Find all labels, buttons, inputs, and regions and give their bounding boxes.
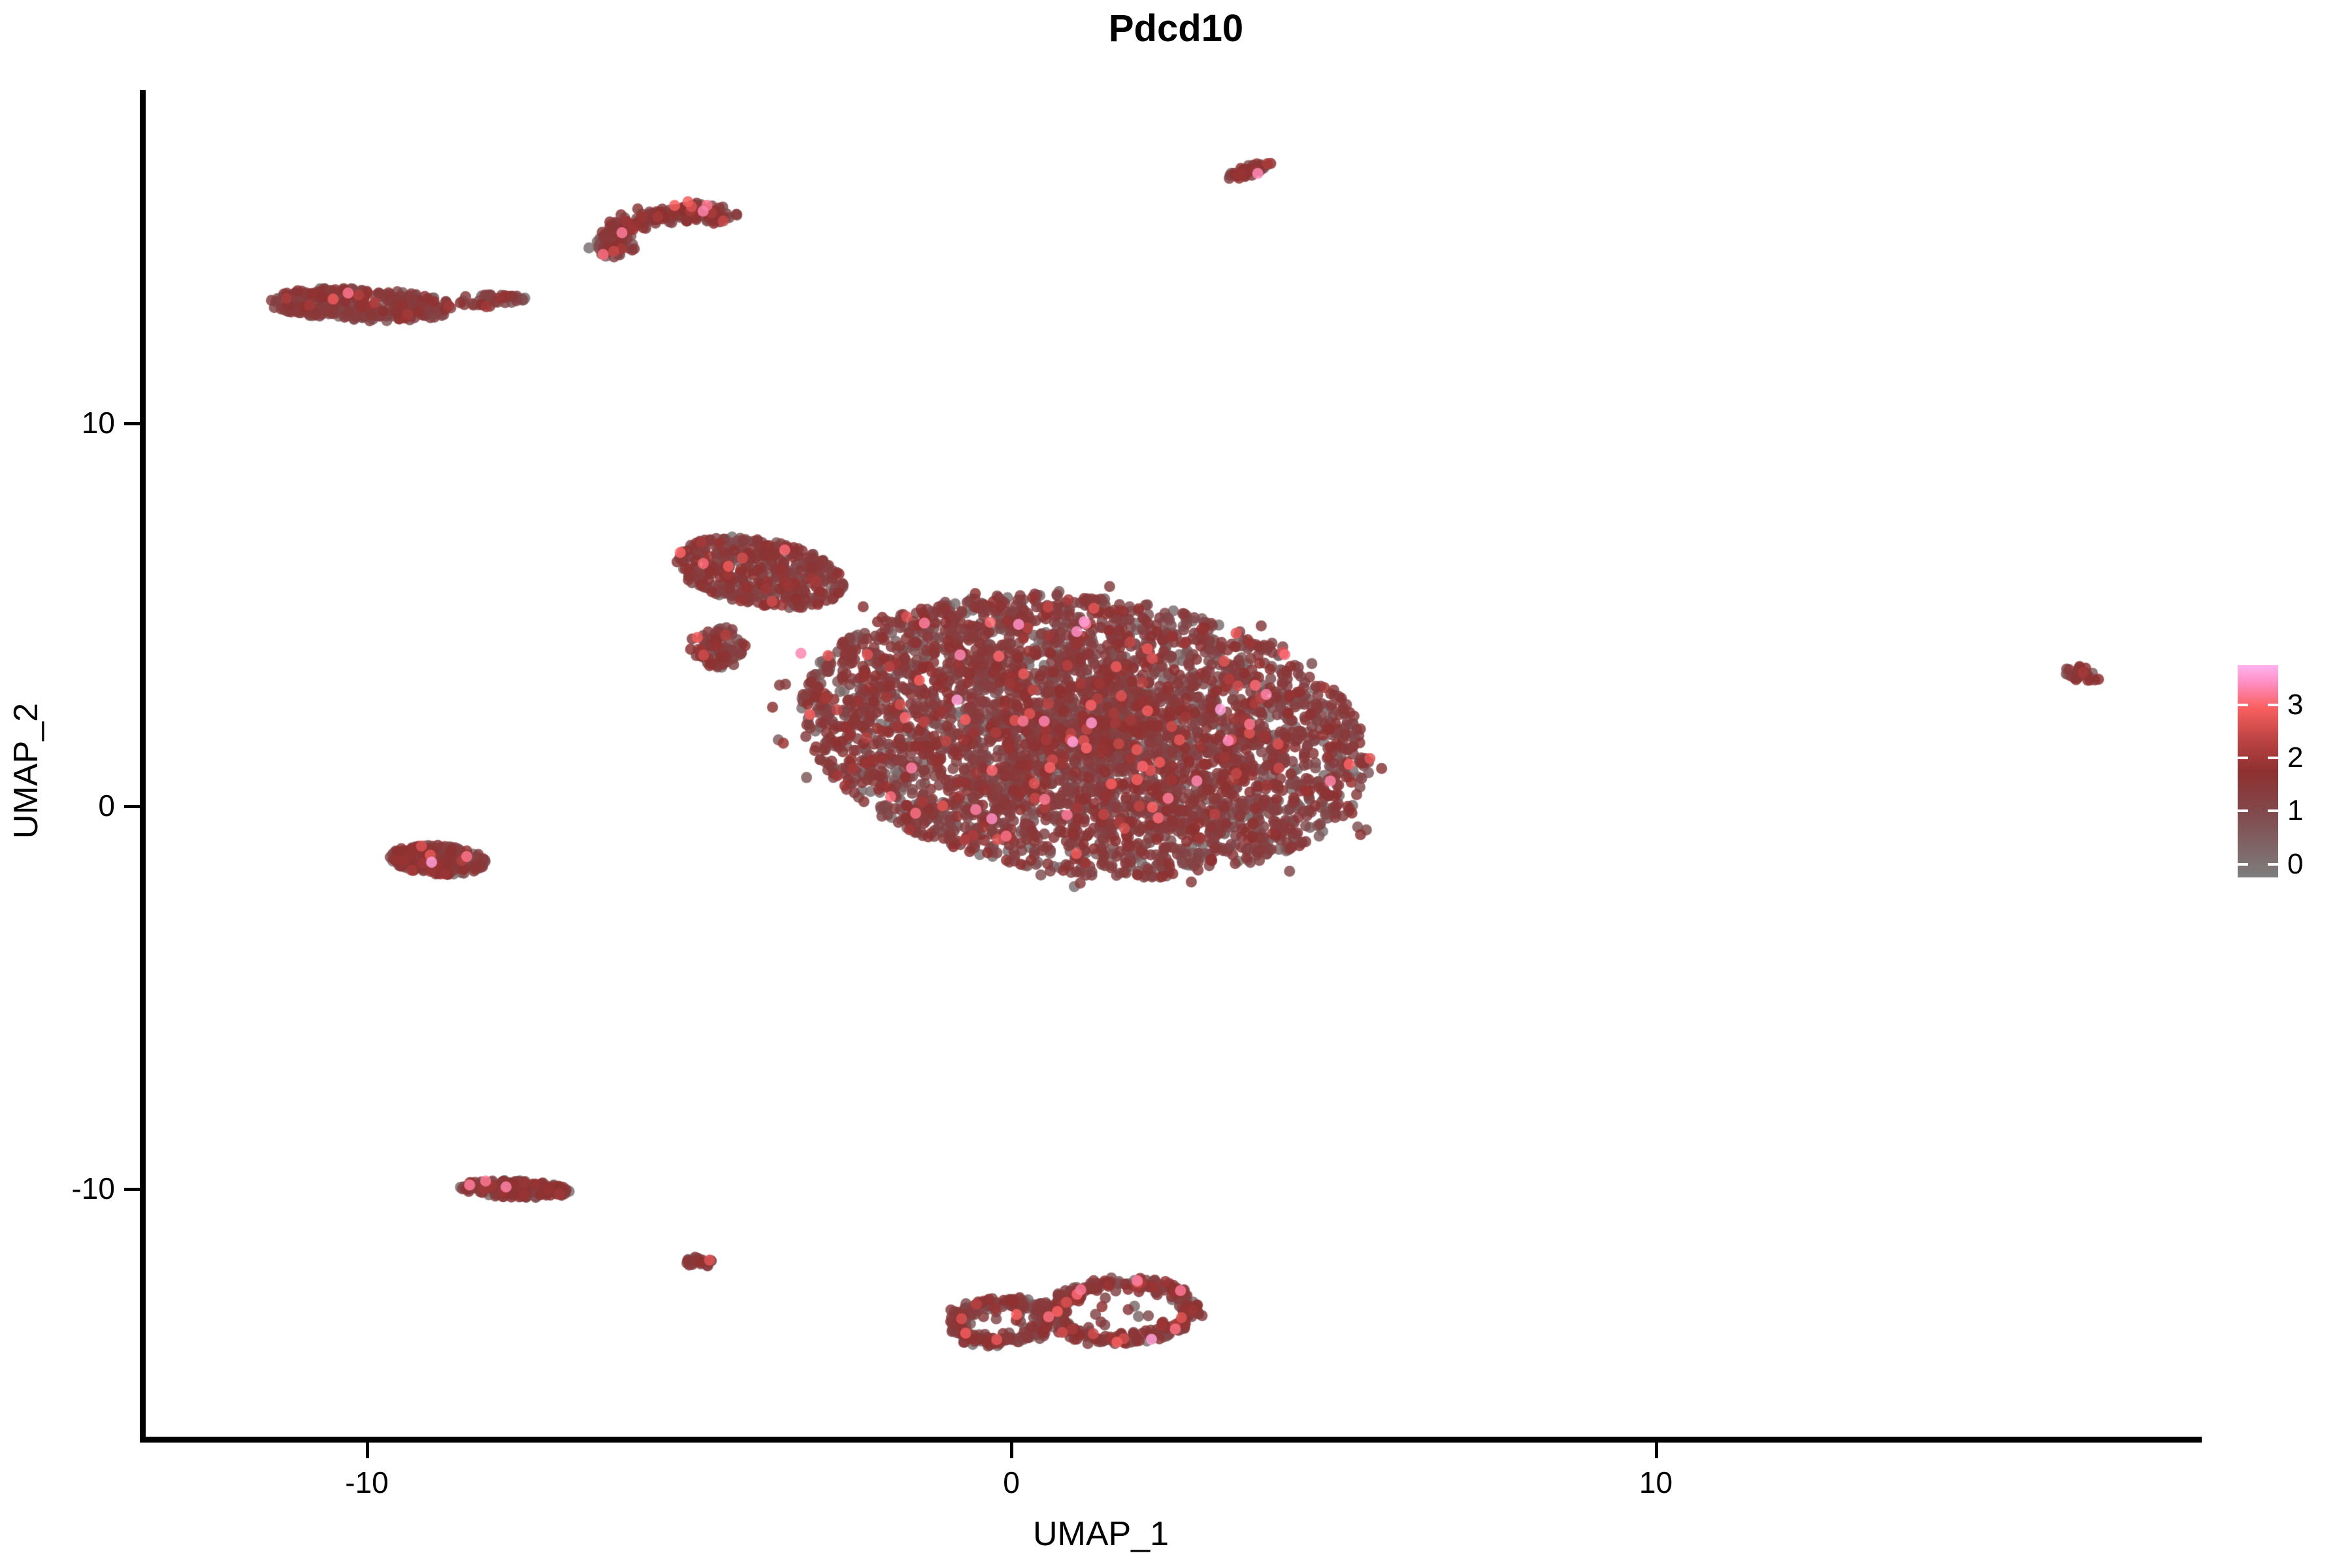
x-tick-mark — [1010, 1443, 1013, 1458]
colorbar-label: 3 — [2287, 691, 2303, 719]
colorbar-tick-mark — [2268, 704, 2278, 706]
colorbar-tick-mark — [2268, 863, 2278, 866]
x-tick-label: 10 — [1578, 1465, 1735, 1500]
umap-feature-plot: Pdcd10 -10010 100-10 UMAP_1 UMAP_2 3210 — [0, 0, 2352, 1568]
y-tick-label: -10 — [0, 1171, 115, 1206]
x-axis-line — [140, 1437, 2202, 1443]
colorbar-tick-mark — [2268, 809, 2278, 812]
x-axis-title: UMAP_1 — [0, 1514, 2202, 1554]
y-axis-line — [140, 90, 146, 1443]
scatter-points-layer — [144, 91, 2202, 1439]
y-tick-mark — [124, 805, 140, 808]
colorbar-gradient-fill — [2238, 665, 2278, 877]
colorbar-tick-mark — [2268, 757, 2278, 759]
colorbar-tick-mark — [2238, 809, 2248, 812]
y-axis-title: UMAP_2 — [7, 575, 46, 967]
colorbar-legend: 3210 — [2238, 665, 2342, 890]
x-tick-label: 0 — [933, 1465, 1090, 1500]
colorbar-tick-mark — [2238, 704, 2248, 706]
x-tick-mark — [366, 1443, 369, 1458]
x-tick-label: -10 — [289, 1465, 446, 1500]
colorbar-tick-mark — [2238, 757, 2248, 759]
page-title: Pdcd10 — [0, 7, 2352, 50]
y-tick-mark — [124, 422, 140, 425]
colorbar-gradient-bar — [2238, 665, 2278, 877]
plot-panel — [144, 91, 2202, 1439]
colorbar-tick-mark — [2238, 863, 2248, 866]
colorbar-label: 0 — [2287, 850, 2303, 879]
y-tick-label: 10 — [0, 405, 115, 440]
colorbar-label: 2 — [2287, 743, 2303, 772]
x-tick-mark — [1655, 1443, 1658, 1458]
colorbar-label: 1 — [2287, 796, 2303, 825]
y-tick-mark — [124, 1188, 140, 1191]
